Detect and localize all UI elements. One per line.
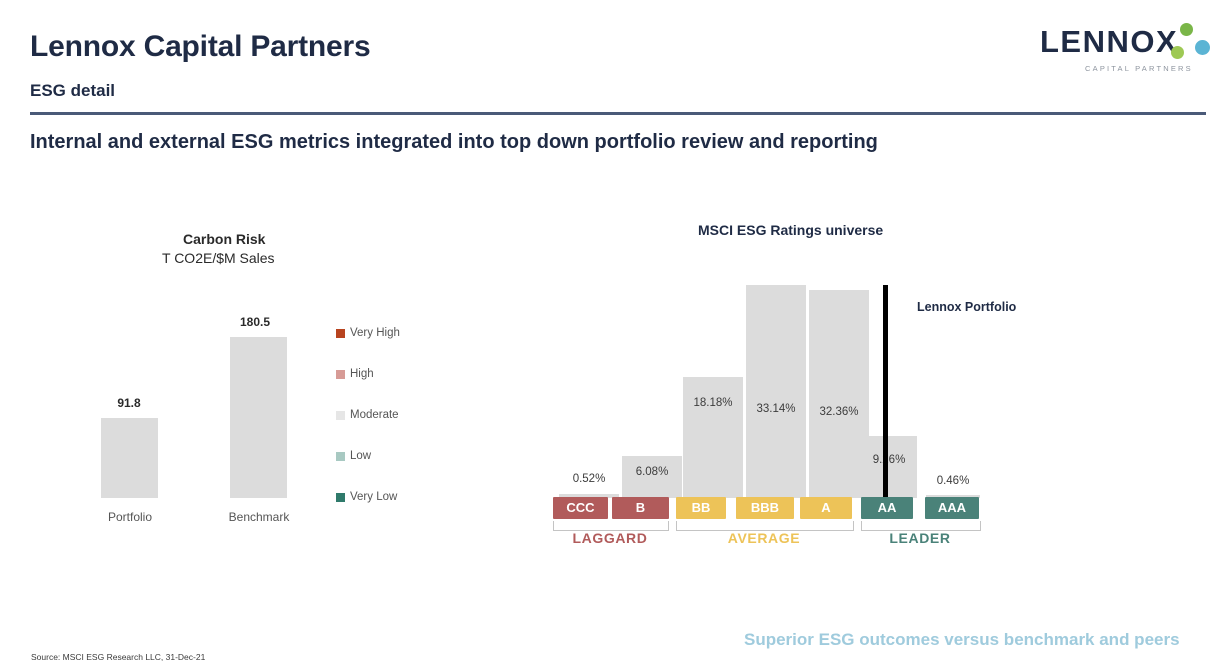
rating-label-aa: AA [861,497,913,519]
lennox-portfolio-marker [883,285,888,511]
msci-bar-aa [861,436,917,498]
rating-label-bb: BB [676,497,726,519]
rating-label-a: A [800,497,852,519]
msci-ratings-chart: MSCI ESG Ratings universe 0.52% 6.08% 18… [0,0,1232,670]
msci-bar-bb [683,377,743,498]
group-label-laggard: LAGGARD [530,530,690,546]
msci-value-aaa: 0.46% [913,475,993,487]
group-label-leader: LEADER [840,530,1000,546]
lennox-portfolio-label: Lennox Portfolio [917,300,1016,314]
rating-label-bbb: BBB [736,497,794,519]
source-note: Source: MSCI ESG Research LLC, 31-Dec-21 [31,652,205,662]
msci-chart-title: MSCI ESG Ratings universe [698,222,883,238]
msci-value-a: 32.36% [799,406,879,418]
rating-label-b: B [612,497,669,519]
slide: Lennox Capital Partners ESG detail Inter… [0,0,1232,670]
rating-label-ccc: CCC [553,497,608,519]
msci-bar-bbb [746,285,806,498]
footer-tagline: Superior ESG outcomes versus benchmark a… [744,630,1180,650]
msci-value-b: 6.08% [612,466,692,478]
msci-value-aa: 9.26% [849,454,929,466]
group-label-average: AVERAGE [684,530,844,546]
msci-bar-a [809,290,869,498]
rating-label-aaa: AAA [925,497,979,519]
